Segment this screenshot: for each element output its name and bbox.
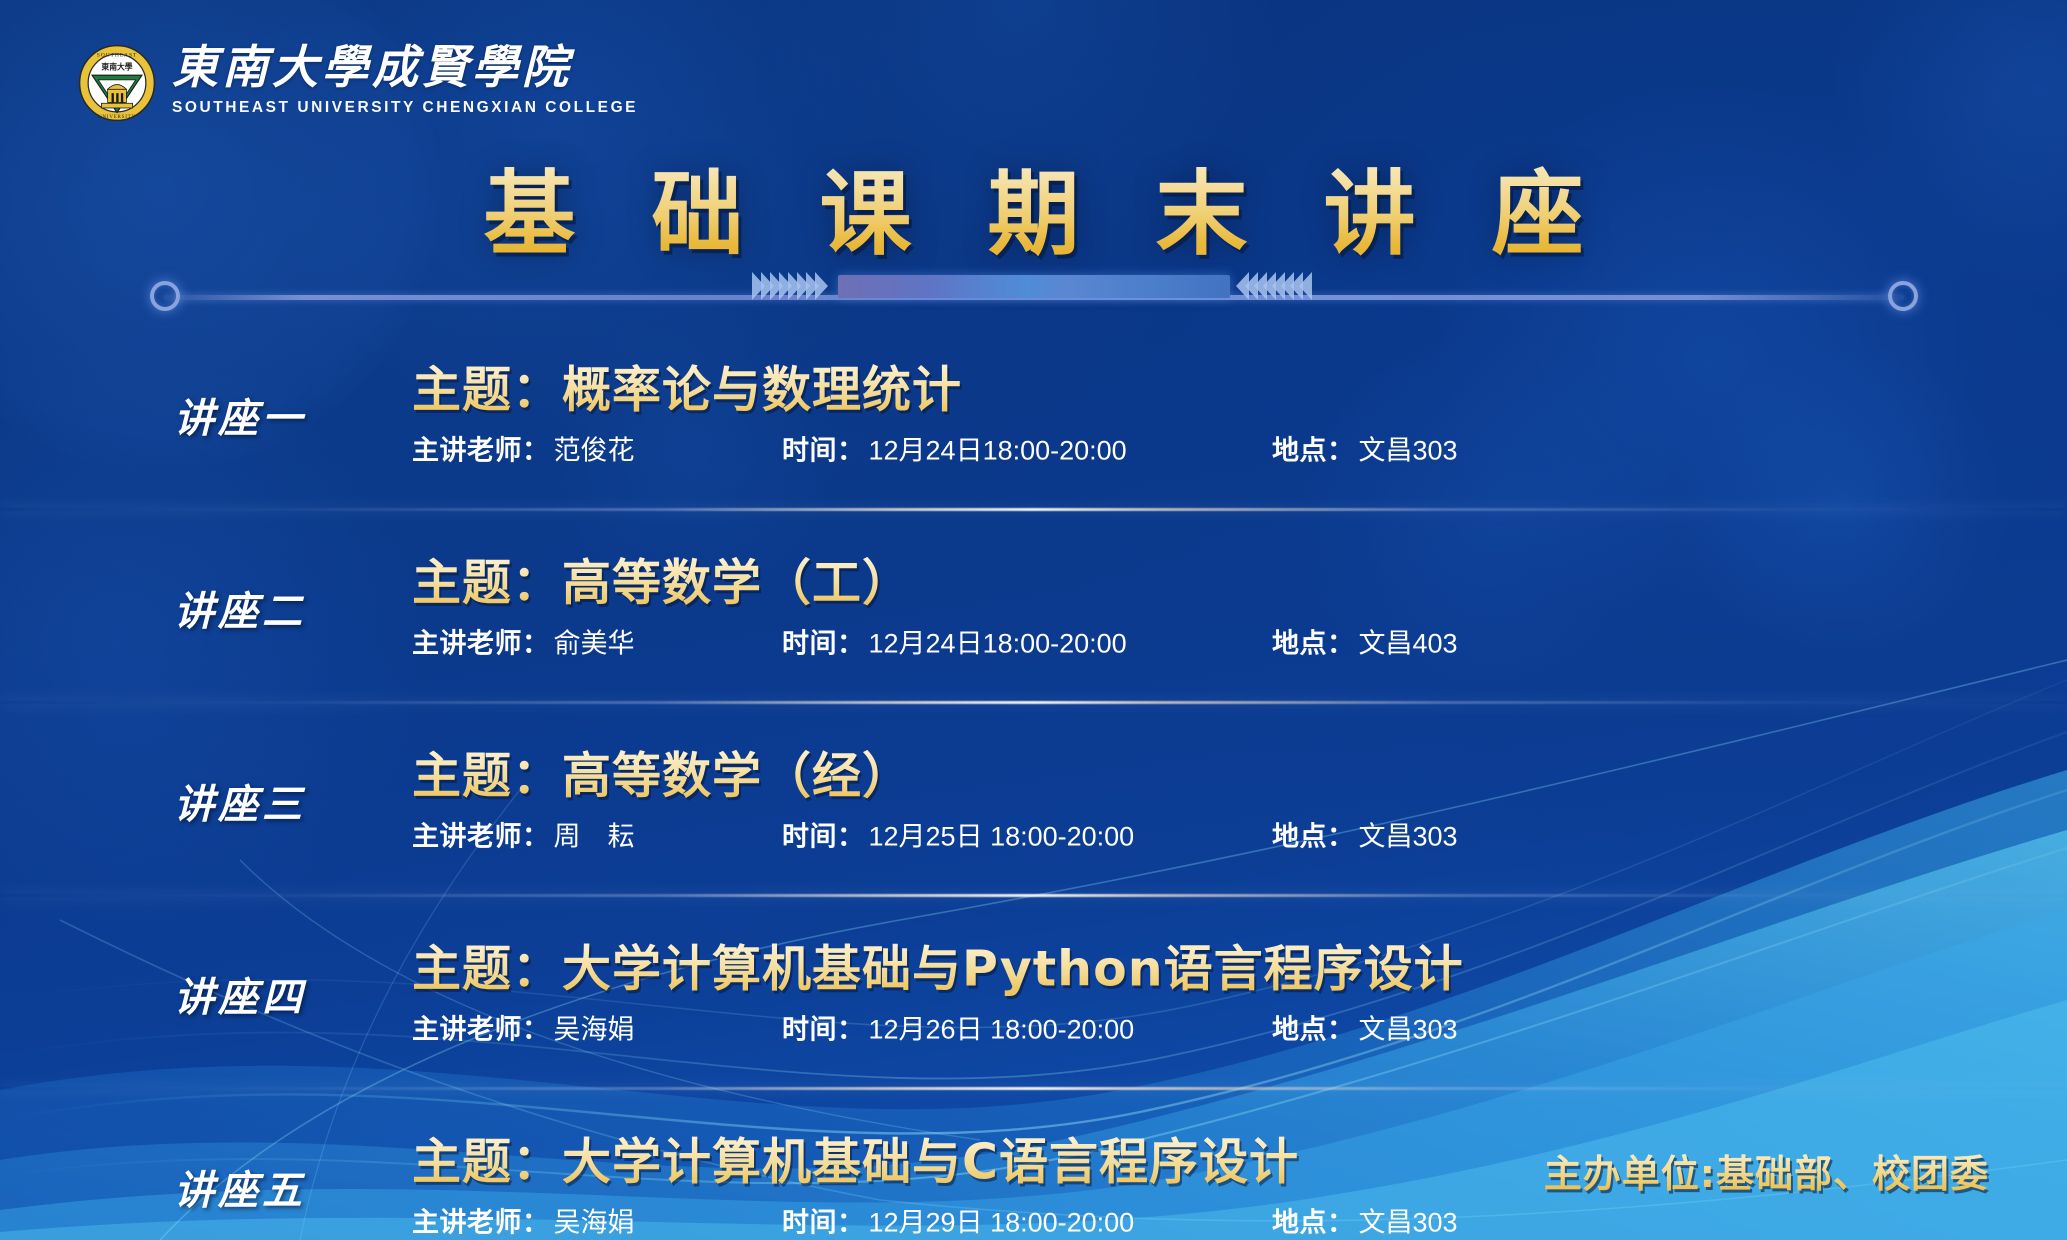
place-value: 文昌303 — [1359, 429, 1458, 468]
lecture-speaker-field: 主讲老师： 吴海娟 — [412, 1008, 635, 1047]
lecture-row: 讲座四 主题：大学计算机基础与Python语言程序设计 主讲老师： 吴海娟 时间… — [0, 897, 2067, 1090]
lecture-meta: 主讲老师： 吴海娟 时间： 12月26日 18:00-20:00 地点： 文昌3… — [412, 1008, 1972, 1046]
organizer-footer: 主办单位:基础部、校团委 — [1544, 1143, 1989, 1198]
lecture-speaker-field: 主讲老师： 范俊花 — [412, 429, 635, 468]
place-label: 地点： — [1272, 815, 1355, 854]
brand-name-cn: 東南大學成賢學院 — [172, 42, 638, 94]
place-value: 文昌303 — [1359, 1008, 1458, 1047]
speaker-label: 主讲老师： — [412, 1008, 550, 1047]
lecture-meta: 主讲老师： 俞美华 时间： 12月24日18:00-20:00 地点： 文昌40… — [412, 622, 1972, 660]
lecture-place-field: 地点： 文昌303 — [1272, 429, 1458, 468]
svg-text:SOUTHEAST: SOUTHEAST — [97, 52, 137, 58]
lecture-number: 讲座五 — [150, 1158, 330, 1216]
lecture-time-field: 时间： 12月24日18:00-20:00 — [782, 622, 1127, 661]
chevron-right-icon — [756, 272, 828, 300]
lecture-meta: 主讲老师： 周 耘 时间： 12月25日 18:00-20:00 地点： 文昌3… — [412, 815, 1972, 853]
brand-text: 東南大學成賢學院 SOUTHEAST UNIVERSITY CHENGXIAN … — [172, 42, 638, 117]
divider-center-bar — [838, 275, 1230, 298]
svg-text:UNIVERSITY: UNIVERSITY — [98, 115, 136, 120]
lecture-place-field: 地点： 文昌303 — [1272, 1008, 1458, 1047]
lecture-speaker-field: 主讲老师： 吴海娟 — [412, 1201, 635, 1240]
lecture-meta: 主讲老师： 范俊花 时间： 12月24日18:00-20:00 地点： 文昌30… — [412, 429, 1972, 467]
time-label: 时间： — [782, 622, 865, 661]
poster-root: SOUTHEAST UNIVERSITY 東南大學 東南大學成賢學院 SOUTH… — [0, 0, 2067, 1240]
time-label: 时间： — [782, 429, 865, 468]
time-value: 12月25日 18:00-20:00 — [869, 815, 1135, 854]
place-label: 地点： — [1272, 429, 1355, 468]
ring-icon — [150, 281, 180, 311]
title-divider — [150, 279, 1918, 313]
lecture-body: 主题：概率论与数理统计 主讲老师： 范俊花 时间： 12月24日18:00-20… — [412, 362, 1972, 467]
lecture-topic: 主题：高等数学（经） — [412, 748, 1972, 805]
speaker-label: 主讲老师： — [412, 429, 550, 468]
ring-icon — [1888, 281, 1918, 311]
lecture-place-field: 地点： 文昌303 — [1272, 815, 1458, 854]
lecture-number: 讲座一 — [150, 386, 330, 444]
lecture-time-field: 时间： 12月26日 18:00-20:00 — [782, 1008, 1134, 1047]
speaker-value: 俞美华 — [554, 622, 635, 661]
place-value: 文昌303 — [1359, 1201, 1458, 1240]
place-value: 文昌403 — [1359, 622, 1458, 661]
lecture-time-field: 时间： 12月29日 18:00-20:00 — [782, 1201, 1134, 1240]
time-value: 12月24日18:00-20:00 — [869, 429, 1127, 468]
speaker-value: 吴海娟 — [554, 1008, 635, 1047]
lecture-topic: 主题：大学计算机基础与Python语言程序设计 — [412, 941, 1972, 998]
brand-logo: SOUTHEAST UNIVERSITY 東南大學 東南大學成賢學院 SOUTH… — [78, 42, 638, 122]
speaker-value: 吴海娟 — [554, 1201, 635, 1240]
time-value: 12月26日 18:00-20:00 — [869, 1008, 1135, 1047]
lecture-list: 讲座一 主题：概率论与数理统计 主讲老师： 范俊花 时间： 12月24日18:0… — [0, 318, 2067, 1240]
speaker-value: 周 耘 — [554, 815, 635, 854]
lecture-number: 讲座三 — [150, 772, 330, 830]
place-label: 地点： — [1272, 622, 1355, 661]
lecture-topic: 主题：高等数学（工） — [412, 555, 1972, 612]
speaker-label: 主讲老师： — [412, 815, 550, 854]
time-label: 时间： — [782, 1008, 865, 1047]
lecture-number: 讲座四 — [150, 965, 330, 1023]
lecture-speaker-field: 主讲老师： 俞美华 — [412, 622, 635, 661]
lecture-row: 讲座三 主题：高等数学（经） 主讲老师： 周 耘 时间： 12月25日 18:0… — [0, 704, 2067, 897]
speaker-label: 主讲老师： — [412, 622, 550, 661]
time-value: 12月29日 18:00-20:00 — [869, 1201, 1135, 1240]
time-label: 时间： — [782, 815, 865, 854]
lecture-time-field: 时间： 12月25日 18:00-20:00 — [782, 815, 1134, 854]
lecture-topic: 主题：概率论与数理统计 — [412, 362, 1972, 419]
lecture-body: 主题：高等数学（经） 主讲老师： 周 耘 时间： 12月25日 18:00-20… — [412, 748, 1972, 853]
lecture-time-field: 时间： 12月24日18:00-20:00 — [782, 429, 1127, 468]
divider-center-ornament — [756, 269, 1312, 303]
lecture-body: 主题：高等数学（工） 主讲老师： 俞美华 时间： 12月24日18:00-20:… — [412, 555, 1972, 660]
time-label: 时间： — [782, 1201, 865, 1240]
university-crest-icon: SOUTHEAST UNIVERSITY 東南大學 — [78, 44, 156, 122]
svg-text:東南大學: 東南大學 — [101, 62, 132, 72]
brand-name-en: SOUTHEAST UNIVERSITY CHENGXIAN COLLEGE — [172, 99, 638, 117]
lecture-place-field: 地点： 文昌303 — [1272, 1201, 1458, 1240]
lecture-meta: 主讲老师： 吴海娟 时间： 12月29日 18:00-20:00 地点： 文昌3… — [412, 1201, 1972, 1239]
speaker-label: 主讲老师： — [412, 1201, 550, 1240]
place-label: 地点： — [1272, 1008, 1355, 1047]
lecture-number: 讲座二 — [150, 579, 330, 637]
lecture-body: 主题：大学计算机基础与Python语言程序设计 主讲老师： 吴海娟 时间： 12… — [412, 941, 1972, 1046]
lecture-place-field: 地点： 文昌403 — [1272, 622, 1458, 661]
time-value: 12月24日18:00-20:00 — [869, 622, 1127, 661]
lecture-speaker-field: 主讲老师： 周 耘 — [412, 815, 635, 854]
lecture-row: 讲座一 主题：概率论与数理统计 主讲老师： 范俊花 时间： 12月24日18:0… — [0, 318, 2067, 511]
place-label: 地点： — [1272, 1201, 1355, 1240]
lecture-row: 讲座二 主题：高等数学（工） 主讲老师： 俞美华 时间： 12月24日18:00… — [0, 511, 2067, 704]
page-title: 基 础 课 期 末 讲 座 — [0, 140, 2067, 273]
speaker-value: 范俊花 — [554, 429, 635, 468]
place-value: 文昌303 — [1359, 815, 1458, 854]
chevron-left-icon — [1240, 272, 1312, 300]
